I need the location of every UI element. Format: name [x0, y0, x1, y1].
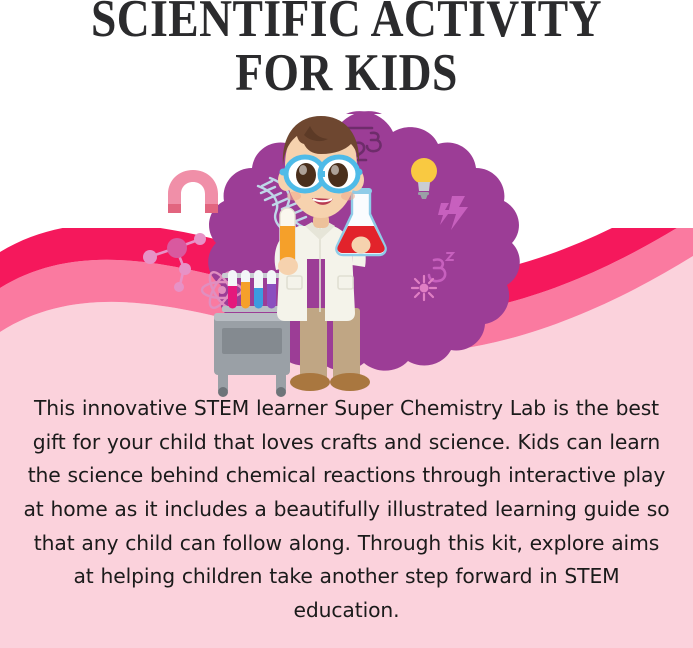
poster-root: SCIENTIFIC ACTIVITY FOR KIDS [0, 0, 693, 648]
test-tube-2 [241, 270, 250, 309]
left-eye [296, 163, 316, 187]
left-hand [278, 257, 298, 275]
molecule-icon [143, 233, 206, 292]
sparkle-icon [412, 276, 436, 300]
right-hand [352, 237, 371, 254]
title-line-2: FOR KIDS [49, 48, 645, 100]
lab-cart [214, 313, 290, 397]
magnet-icon [168, 170, 218, 213]
title-line-1: SCIENTIFIC ACTIVITY [49, 0, 645, 46]
right-eye [328, 163, 348, 187]
kid-scientist-illustration [0, 108, 693, 398]
test-tube-1 [228, 270, 237, 309]
description-paragraph: This innovative STEM learner Super Chemi… [0, 392, 693, 627]
test-tube-4 [267, 270, 276, 309]
page-title: SCIENTIFIC ACTIVITY FOR KIDS [0, 0, 693, 100]
test-tube-3 [254, 270, 263, 309]
